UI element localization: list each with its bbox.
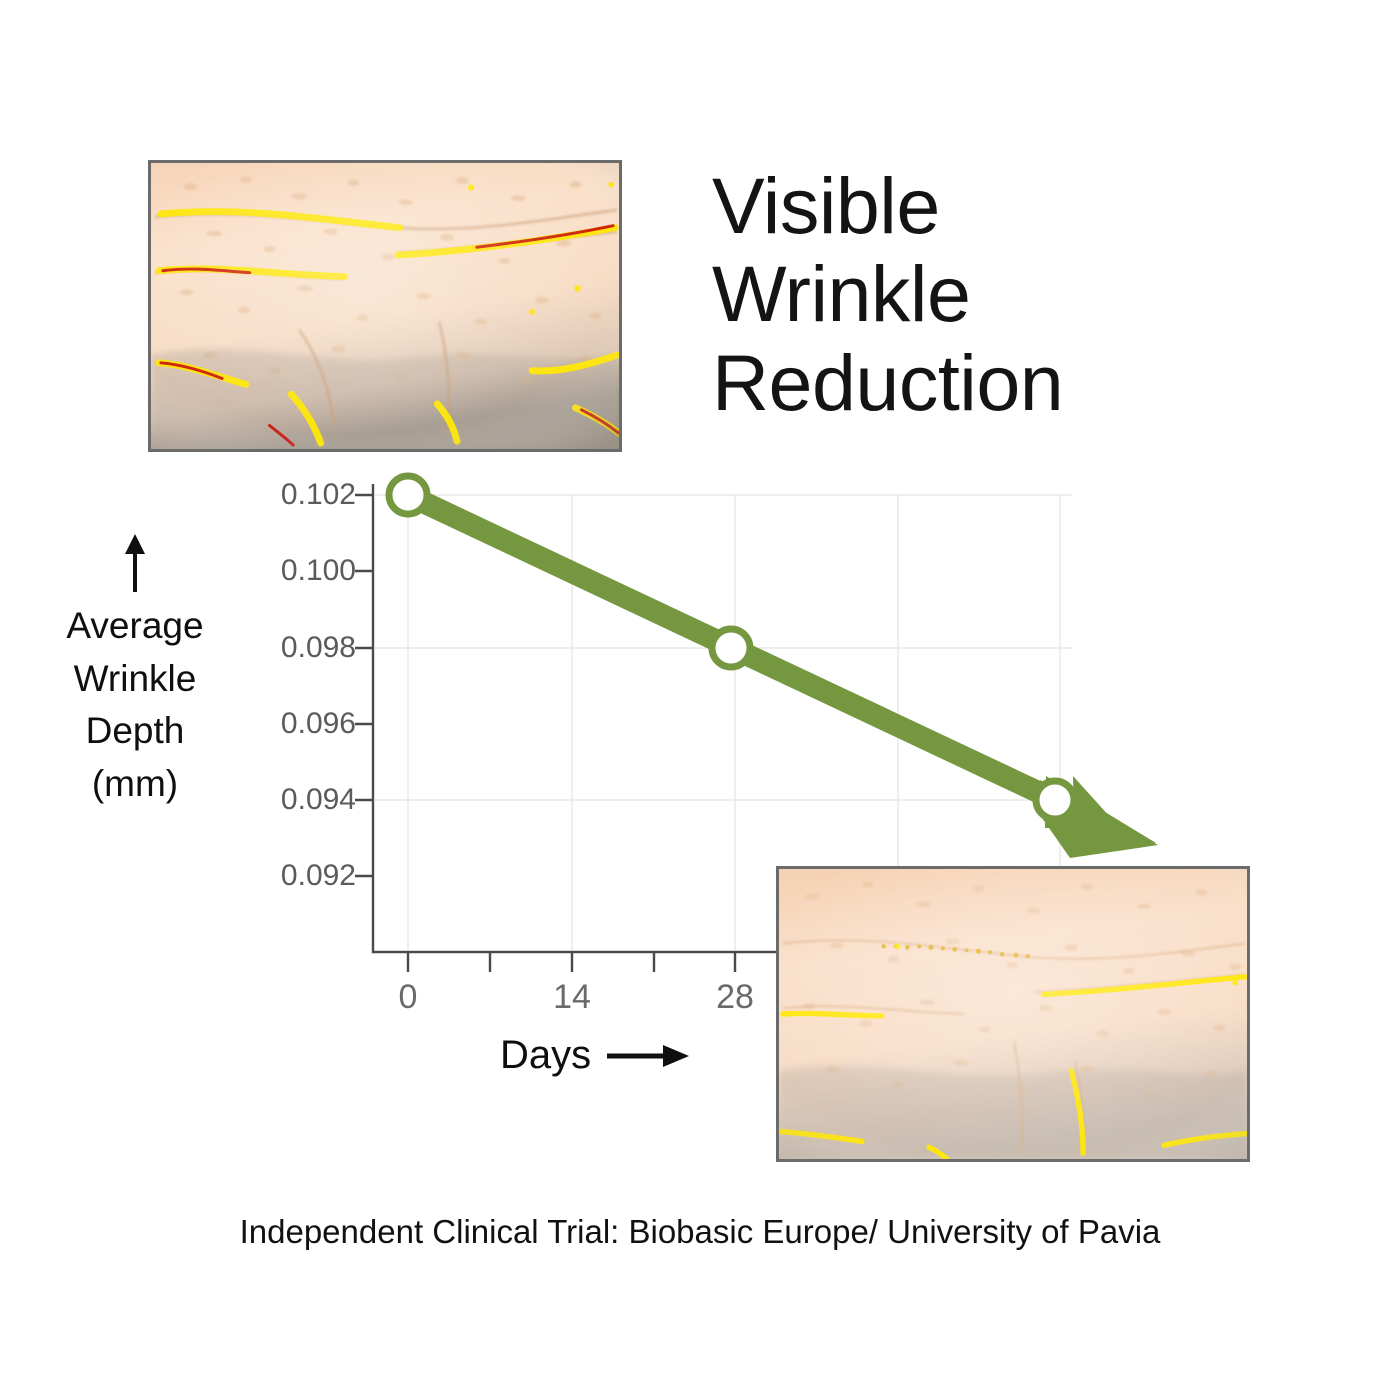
y-tick-label: 0.096 <box>281 707 356 741</box>
x-axis-title: Days <box>500 1033 691 1078</box>
series-line-wrinkle-depth <box>408 495 1055 800</box>
x-axis-ticks <box>408 952 735 972</box>
right-arrow-icon <box>605 1041 691 1071</box>
after-skin-image <box>779 869 1247 1159</box>
x-tick-label: 0 <box>399 978 418 1017</box>
y-tick-label: 0.098 <box>281 631 356 665</box>
y-tick-label: 0.100 <box>281 554 356 588</box>
x-tick-label: 28 <box>716 978 754 1017</box>
horizontal-gridlines <box>375 495 1072 800</box>
y-axis-up-arrow-icon <box>35 532 235 594</box>
page-title-line-1: Visible <box>712 162 1192 250</box>
y-axis-title-line-2: Wrinkle <box>35 653 235 706</box>
y-axis-title: Average Wrinkle Depth (mm) <box>35 600 235 810</box>
poster-root: Visible Wrinkle Reduction <box>0 0 1400 1400</box>
y-tick-label: 0.094 <box>281 783 356 817</box>
y-axis-title-line-1: Average <box>35 600 235 653</box>
trend-arrow-head-fill <box>1040 780 1158 858</box>
page-title-line-2: Wrinkle <box>712 250 1192 338</box>
y-axis-title-line-3: Depth <box>35 705 235 758</box>
trend-arrow-head <box>1045 776 1156 854</box>
x-axis-title-label: Days <box>500 1033 591 1078</box>
y-axis-ticks <box>355 495 373 876</box>
y-tick-label: 0.092 <box>281 859 356 893</box>
footer-source-note: Independent Clinical Trial: Biobasic Eur… <box>0 1213 1400 1251</box>
data-point-day-0 <box>389 476 427 514</box>
after-skin-photo <box>776 866 1250 1162</box>
page-title: Visible Wrinkle Reduction <box>712 162 1192 427</box>
page-title-line-3: Reduction <box>712 339 1192 427</box>
data-point-day-14 <box>712 629 750 667</box>
data-point-day-28 <box>1036 781 1074 819</box>
y-axis-title-line-4: (mm) <box>35 758 235 811</box>
x-tick-label: 14 <box>553 978 591 1017</box>
y-tick-label: 0.102 <box>281 478 356 512</box>
